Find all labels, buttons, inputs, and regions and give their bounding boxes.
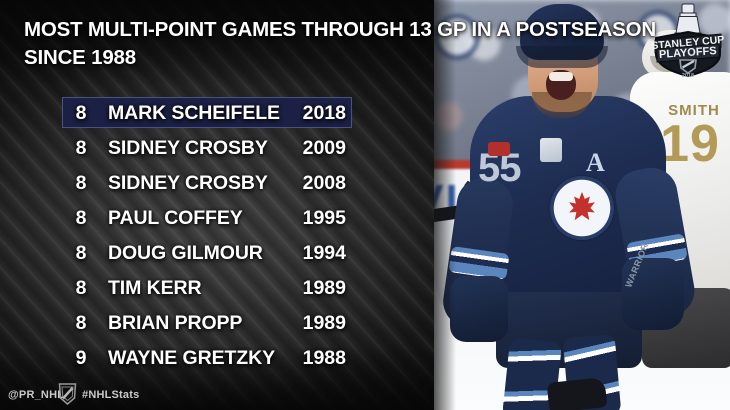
row-player-name: MARK SCHEIFELE bbox=[108, 102, 280, 125]
row-year: 2008 bbox=[260, 172, 346, 195]
row-count: 8 bbox=[68, 207, 94, 230]
row-player-name: PAUL COFFEY bbox=[108, 207, 243, 230]
table-row: 8PAUL COFFEY1995 bbox=[0, 201, 434, 236]
row-year: 1989 bbox=[260, 277, 346, 300]
alternate-captain-patch: A bbox=[586, 148, 605, 178]
table-row: 8SIDNEY CROSBY2008 bbox=[0, 166, 434, 201]
table-row: 8MARK SCHEIFELE2018 bbox=[0, 96, 434, 131]
row-year: 1989 bbox=[260, 312, 346, 335]
title-line-1: MOST MULTI-POINT GAMES THROUGH 13 GP IN … bbox=[24, 18, 656, 41]
row-year: 2018 bbox=[260, 102, 346, 125]
row-count: 8 bbox=[68, 102, 94, 125]
row-player-name: WAYNE GRETZKY bbox=[108, 347, 275, 370]
row-player-name: BRIAN PROPP bbox=[108, 312, 242, 335]
nhl-shield-icon bbox=[58, 383, 77, 405]
table-row: 8DOUG GILMOUR1994 bbox=[0, 236, 434, 271]
nhl-stats-graphic: VI WESTERN SMITH 19 55 A bbox=[0, 0, 730, 410]
row-player-name: DOUG GILMOUR bbox=[108, 242, 263, 265]
helmet-visor bbox=[516, 46, 608, 68]
table-row: 8TIM KERR1989 bbox=[0, 271, 434, 306]
shoulder-patch bbox=[540, 138, 562, 162]
row-year: 1988 bbox=[260, 347, 346, 370]
logo-year-text: 2018 bbox=[682, 73, 694, 78]
page-title: MOST MULTI-POINT GAMES THROUGH 13 GP IN … bbox=[24, 16, 424, 72]
row-player-name: SIDNEY CROSBY bbox=[108, 137, 268, 160]
row-count: 8 bbox=[68, 312, 94, 335]
stanley-cup-playoffs-logo: STANLEY CUP PLAYOFFS 2018 bbox=[650, 2, 726, 78]
row-count: 8 bbox=[68, 242, 94, 265]
main-player-skate bbox=[547, 377, 608, 410]
table-row: 8BRIAN PROPP1989 bbox=[0, 306, 434, 341]
main-player-mouth bbox=[546, 70, 576, 100]
row-count: 8 bbox=[68, 172, 94, 195]
row-year: 1995 bbox=[260, 207, 346, 230]
main-player-left-glove bbox=[450, 276, 508, 342]
table-row: 9WAYNE GRETZKY1988 bbox=[0, 341, 434, 376]
row-count: 9 bbox=[68, 347, 94, 370]
row-count: 8 bbox=[68, 277, 94, 300]
row-count: 8 bbox=[68, 137, 94, 160]
stats-list: 8MARK SCHEIFELE20188SIDNEY CROSBY20098SI… bbox=[0, 96, 434, 376]
title-line-2: SINCE 1988 bbox=[24, 44, 424, 72]
twitter-handle[interactable]: @PR_NHL bbox=[8, 389, 64, 401]
sponsor-patch bbox=[488, 142, 510, 156]
hashtag-label[interactable]: #NHLStats bbox=[82, 389, 139, 401]
main-player-right-glove bbox=[622, 258, 684, 330]
row-year: 1994 bbox=[260, 242, 346, 265]
table-row: 8SIDNEY CROSBY2009 bbox=[0, 131, 434, 166]
row-year: 2009 bbox=[260, 137, 346, 160]
footer-bar: @PR_NHL #NHLStats bbox=[0, 376, 434, 410]
row-player-name: SIDNEY CROSBY bbox=[108, 172, 268, 195]
row-player-name: TIM KERR bbox=[108, 277, 201, 300]
